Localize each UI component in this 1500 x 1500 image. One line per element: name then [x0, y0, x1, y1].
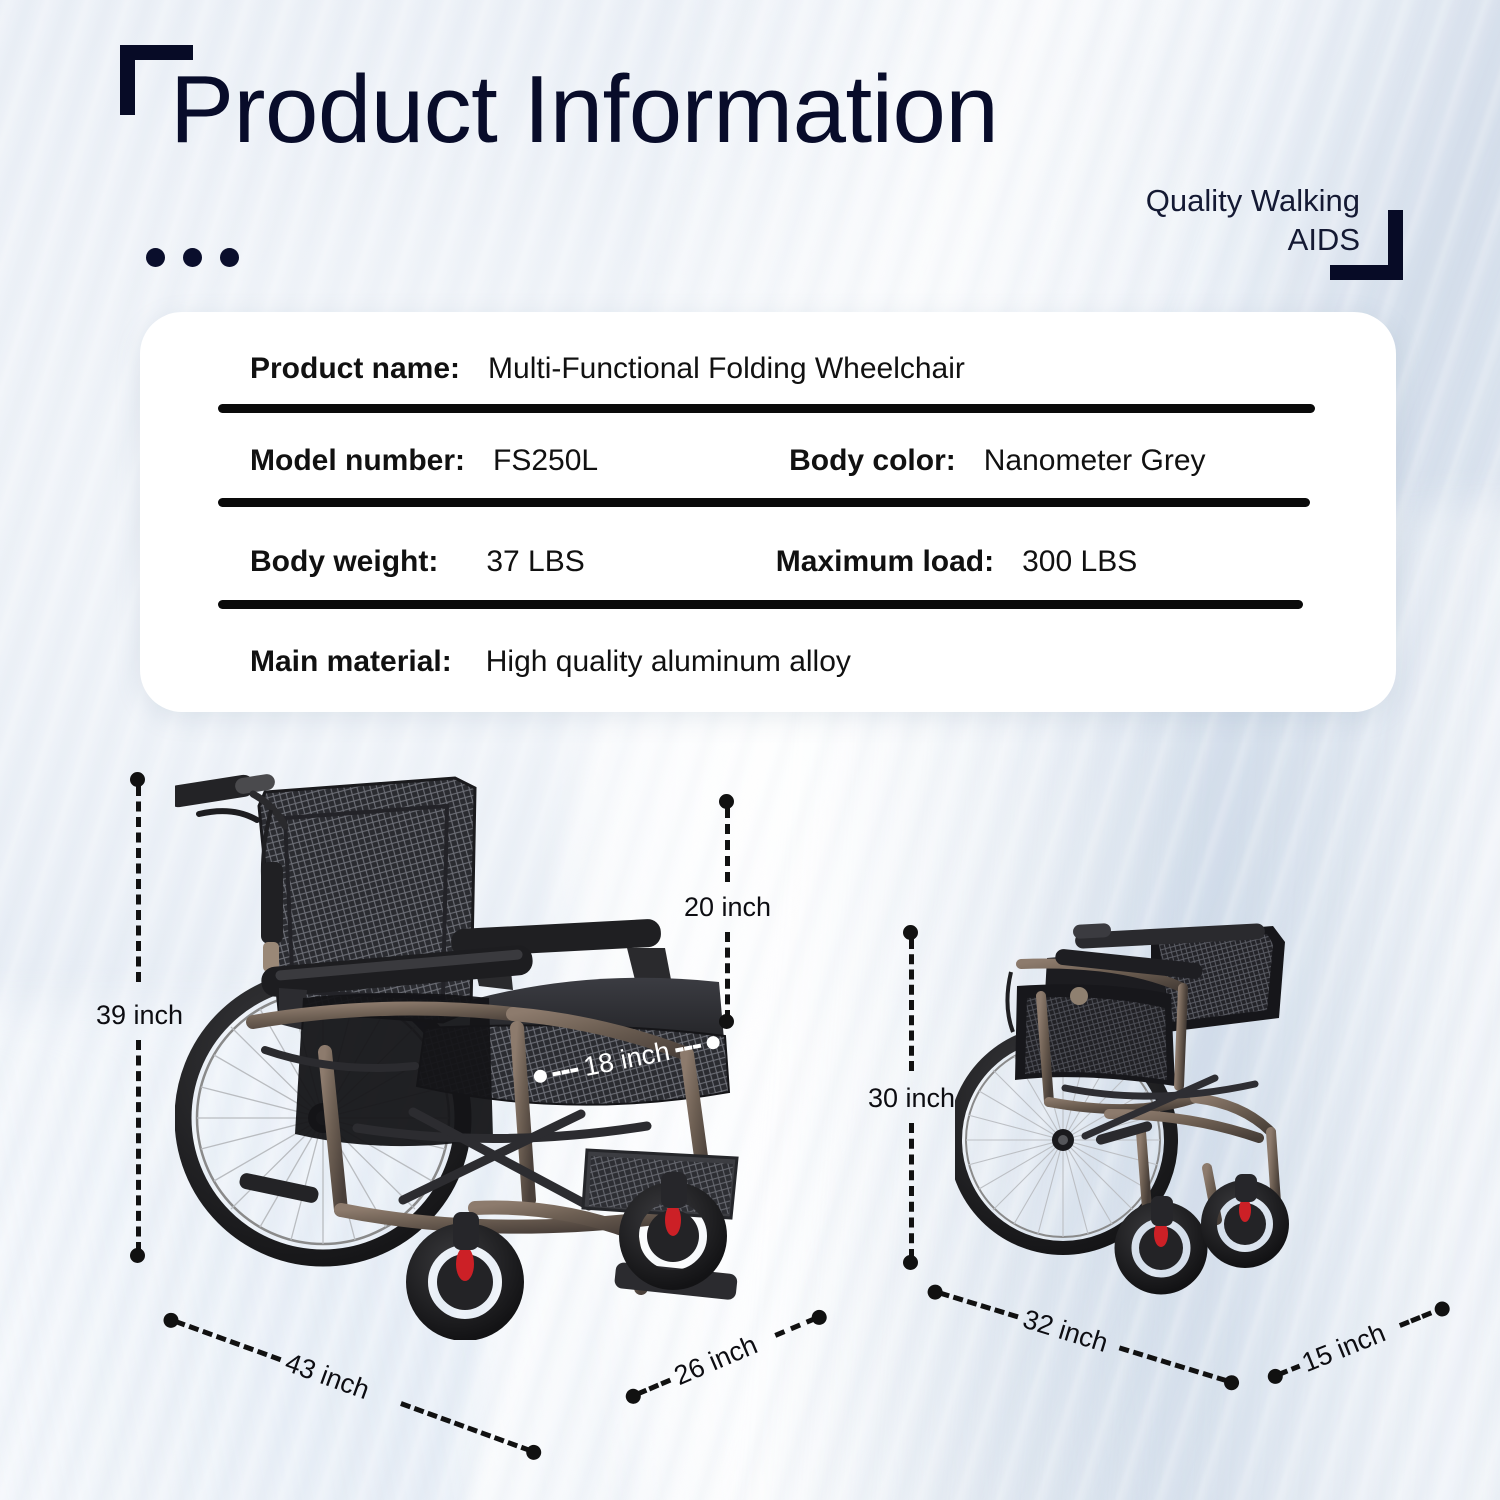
spec-label-model-number: Model number: [250, 444, 465, 478]
spec-label-body-weight: Body weight: [250, 545, 438, 579]
product-photo-folded-wheelchair [955, 900, 1355, 1320]
spec-row-product-name: Product name: Multi-Functional Folding W… [140, 352, 1396, 386]
spec-row-body-weight: Body weight: 37 LBS Maximum load: 300 LB… [140, 545, 1396, 579]
decorative-dots-icon [146, 248, 239, 267]
spec-label-body-color: Body color: [789, 444, 956, 478]
page-title: Product Information [170, 62, 998, 158]
dimension-20-inch-label: 20 inch [684, 892, 771, 923]
tagline-line-2: AIDS [1060, 221, 1360, 260]
spec-row-model-number: Model number: FS250L Body color: Nanomet… [140, 444, 1396, 478]
spec-divider-3 [218, 600, 1303, 609]
spec-value-body-color: Nanometer Grey [984, 444, 1206, 478]
spec-label-product-name: Product name: [250, 352, 460, 386]
push-handles [175, 773, 285, 972]
spec-label-main-material: Main material: [250, 645, 452, 679]
product-information-infographic: Product Information Quality Walking AIDS… [0, 0, 1500, 1500]
corner-bracket-bottom-right-icon [1330, 210, 1403, 280]
spec-value-body-weight: 37 LBS [486, 545, 584, 579]
spec-divider-1 [218, 404, 1315, 413]
spec-value-maximum-load: 300 LBS [1022, 545, 1137, 579]
spec-row-main-material: Main material: High quality aluminum all… [140, 645, 1396, 679]
spec-label-maximum-load: Maximum load: [776, 545, 994, 579]
folded-caster-left [1123, 1196, 1199, 1286]
specification-card: Product name: Multi-Functional Folding W… [140, 312, 1396, 712]
dimension-30-inch-label: 30 inch [868, 1083, 955, 1114]
spec-value-product-name: Multi-Functional Folding Wheelchair [488, 352, 965, 386]
tagline-line-1: Quality Walking [1060, 182, 1360, 221]
spec-value-model-number: FS250L [493, 444, 598, 478]
spec-value-main-material: High quality aluminum alloy [486, 645, 851, 679]
folded-seat-bundle [1015, 923, 1285, 1086]
tagline: Quality Walking AIDS [1060, 182, 1360, 260]
spec-divider-2 [218, 498, 1310, 507]
dimension-39-inch-label: 39 inch [96, 1000, 183, 1031]
